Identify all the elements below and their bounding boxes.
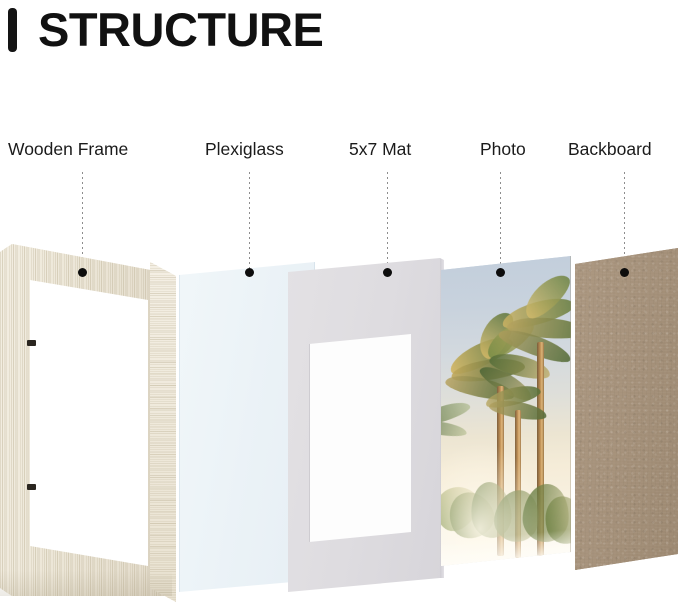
leader-line-backboard bbox=[624, 172, 625, 268]
leader-dot-mat bbox=[383, 268, 392, 277]
layer-backboard bbox=[575, 248, 678, 570]
exploded-diagram: Wooden Frame Plexiglass 5x7 Mat Photo Ba… bbox=[0, 0, 679, 592]
label-mat: 5x7 Mat bbox=[349, 139, 411, 160]
layer-wooden-frame bbox=[0, 236, 190, 596]
leader-dot-photo bbox=[496, 268, 505, 277]
label-plexiglass: Plexiglass bbox=[205, 139, 284, 160]
label-backboard: Backboard bbox=[568, 139, 652, 160]
frame-bottom-shadow bbox=[0, 570, 172, 596]
leader-line-mat bbox=[387, 172, 388, 268]
mat-window-opening bbox=[309, 334, 411, 542]
frame-clip-bottom bbox=[27, 484, 36, 490]
leader-line-photo bbox=[500, 172, 501, 268]
layer-mat bbox=[288, 258, 440, 592]
layer-photo bbox=[441, 256, 571, 566]
label-photo: Photo bbox=[480, 139, 526, 160]
frame-window-opening bbox=[30, 280, 148, 566]
leader-line-plexiglass bbox=[249, 172, 250, 268]
mat-board-surface bbox=[288, 258, 440, 592]
frame-clip-top bbox=[27, 340, 36, 346]
leader-dot-wooden-frame bbox=[78, 268, 87, 277]
leader-dot-backboard bbox=[620, 268, 629, 277]
leader-dot-plexiglass bbox=[245, 268, 254, 277]
label-wooden-frame: Wooden Frame bbox=[8, 139, 128, 160]
frame-side-edge bbox=[150, 262, 176, 602]
photo-sun-glow bbox=[441, 256, 571, 566]
